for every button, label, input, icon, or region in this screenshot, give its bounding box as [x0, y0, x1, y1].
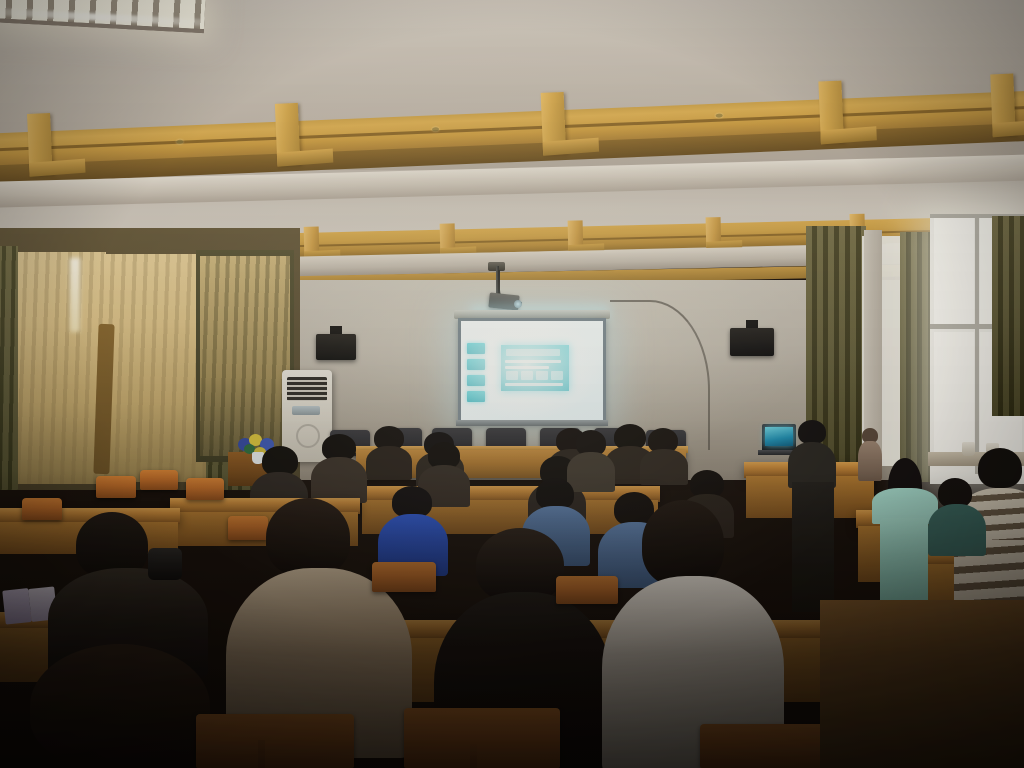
chair-back[interactable] — [404, 708, 560, 768]
ac-vent-grille — [287, 377, 327, 401]
camera — [148, 548, 182, 580]
screen-bottom-bar — [456, 420, 608, 426]
chair-back[interactable] — [22, 498, 62, 520]
right-drape-edge — [992, 216, 1024, 416]
floor-right — [820, 600, 1024, 768]
chair-back[interactable] — [186, 478, 224, 500]
projection-screen-surface — [461, 321, 603, 421]
daylight-gap — [70, 258, 80, 332]
chair-leg — [470, 744, 477, 768]
ac-louver — [292, 406, 320, 415]
chair-back[interactable] — [96, 476, 136, 498]
slide-nav-block — [467, 343, 485, 354]
ac-brand-mark — [296, 424, 320, 448]
slide-nav-block — [467, 359, 485, 370]
chair-leg — [258, 740, 265, 768]
projection-screen[interactable] — [458, 318, 606, 424]
wall-speaker-right — [730, 328, 774, 356]
slide-nav-block — [467, 375, 485, 386]
conference-room-photo: Conference room presentation presentatio… — [0, 0, 1024, 768]
chair-back[interactable] — [196, 714, 354, 768]
side-drape — [0, 246, 18, 490]
slide-content-block — [501, 345, 569, 391]
chair-back[interactable] — [372, 562, 436, 592]
slide-nav-block — [467, 391, 485, 402]
chair-back[interactable] — [140, 470, 178, 490]
cup-on-sill — [962, 442, 975, 456]
chair-back[interactable] — [556, 576, 618, 604]
wall-speaker-left — [316, 334, 356, 360]
laptop[interactable] — [762, 424, 796, 450]
chair-back[interactable] — [228, 516, 268, 540]
right-drape — [900, 232, 934, 482]
laptop-screen — [765, 427, 793, 446]
sheer-curtain — [6, 252, 106, 484]
left-window-group-far — [196, 250, 294, 462]
